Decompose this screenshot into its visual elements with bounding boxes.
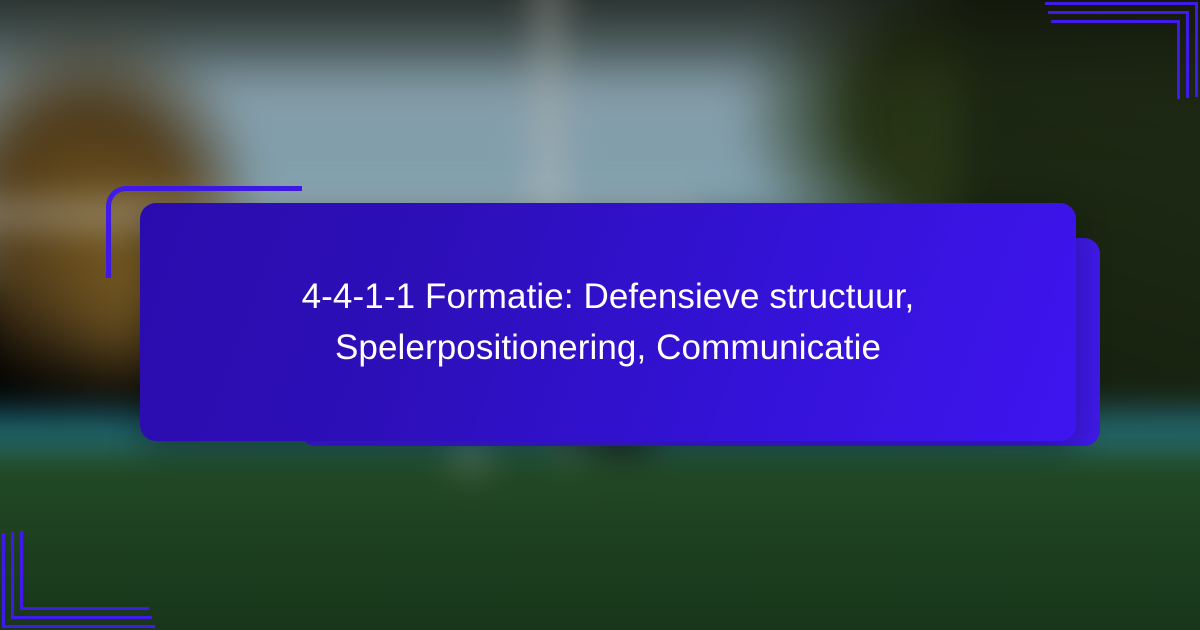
page-title: 4-4-1-1 Formatie: Defensieve structuur, … (302, 271, 915, 374)
page-title-line-2: Spelerpositionering, Communicatie (302, 322, 915, 373)
title-card: 4-4-1-1 Formatie: Defensieve structuur, … (140, 203, 1076, 441)
page-title-line-1: 4-4-1-1 Formatie: Defensieve structuur, (302, 271, 915, 322)
banner-canvas: 4-4-1-1 Formatie: Defensieve structuur, … (0, 0, 1200, 630)
title-card-stack: 4-4-1-1 Formatie: Defensieve structuur, … (0, 0, 1200, 630)
